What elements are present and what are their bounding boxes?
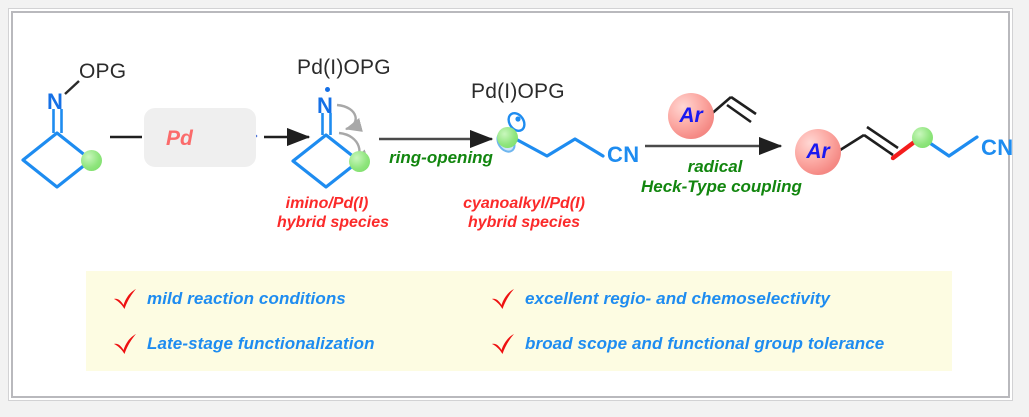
feature-item-2: excellent regio- and chemoselectivity xyxy=(490,288,830,310)
reagent-ar-label: Ar xyxy=(679,104,702,128)
product-green-marker xyxy=(912,127,933,148)
feature-label: excellent regio- and chemoselectivity xyxy=(525,289,830,309)
arrow-heck-coupling-label: radical Heck-Type coupling xyxy=(641,157,789,198)
product-ar-sphere: Ar xyxy=(795,129,841,175)
product-structure xyxy=(837,127,977,158)
check-icon xyxy=(112,288,138,310)
check-icon xyxy=(112,333,138,355)
caption-line-2: hybrid species xyxy=(277,214,389,231)
reaction-conditions-box xyxy=(144,108,256,167)
intermediate-2-green-marker xyxy=(497,127,518,148)
substrate-opg-label: OPG xyxy=(79,61,126,82)
product-ar-label: Ar xyxy=(806,140,829,164)
feature-item-1: mild reaction conditions xyxy=(112,288,346,310)
reagent-ar-sphere: Ar xyxy=(668,93,714,139)
feature-item-4: broad scope and functional group toleran… xyxy=(490,333,884,355)
product-cn-label: CN xyxy=(981,137,1013,159)
caption-line-1: cyanoalkyl/Pd(I) xyxy=(463,195,585,212)
feature-label: mild reaction conditions xyxy=(147,289,346,309)
intermediate-1-top-label: Pd(I)OPG xyxy=(297,57,391,78)
feature-item-3: Late-stage functionalization xyxy=(112,333,375,355)
intermediate-1-green-marker xyxy=(349,151,370,172)
feature-label: broad scope and functional group toleran… xyxy=(525,334,884,354)
intermediate-2-cn-label: CN xyxy=(607,144,639,166)
intermediate-2-top-label: Pd(I)OPG xyxy=(471,81,565,102)
heck-label-line-2: Heck-Type coupling xyxy=(641,177,802,196)
intermediate-1-caption: imino/Pd(I) hybrid species xyxy=(277,195,377,233)
reagent-alkene xyxy=(709,97,756,122)
scheme-canvas: Pd N OPG Pd(I)OPG N Pd(I)OPG CN CN imino… xyxy=(9,9,1012,400)
substrate-nitrogen-label: N xyxy=(47,91,63,113)
caption-line-2: hybrid species xyxy=(468,214,580,231)
check-icon xyxy=(490,288,516,310)
substrate-green-marker xyxy=(81,150,102,171)
graphical-abstract-frame: Pd N OPG Pd(I)OPG N Pd(I)OPG CN CN imino… xyxy=(8,8,1013,401)
features-panel: mild reaction conditions excellent regio… xyxy=(86,271,952,371)
feature-label: Late-stage functionalization xyxy=(147,334,375,354)
caption-line-1: imino/Pd(I) xyxy=(286,195,369,212)
heck-label-line-1: radical xyxy=(688,157,743,176)
curved-arrow-1 xyxy=(337,105,356,129)
intermediate-1-nitrogen-label: N xyxy=(317,95,333,117)
arrow-ring-opening-label: ring-opening xyxy=(387,149,495,166)
radical-dot-icon xyxy=(325,87,330,92)
intermediate-2-caption: cyanoalkyl/Pd(I) hybrid species xyxy=(449,195,599,233)
check-icon xyxy=(490,333,516,355)
catalyst-label: Pd xyxy=(166,128,193,149)
